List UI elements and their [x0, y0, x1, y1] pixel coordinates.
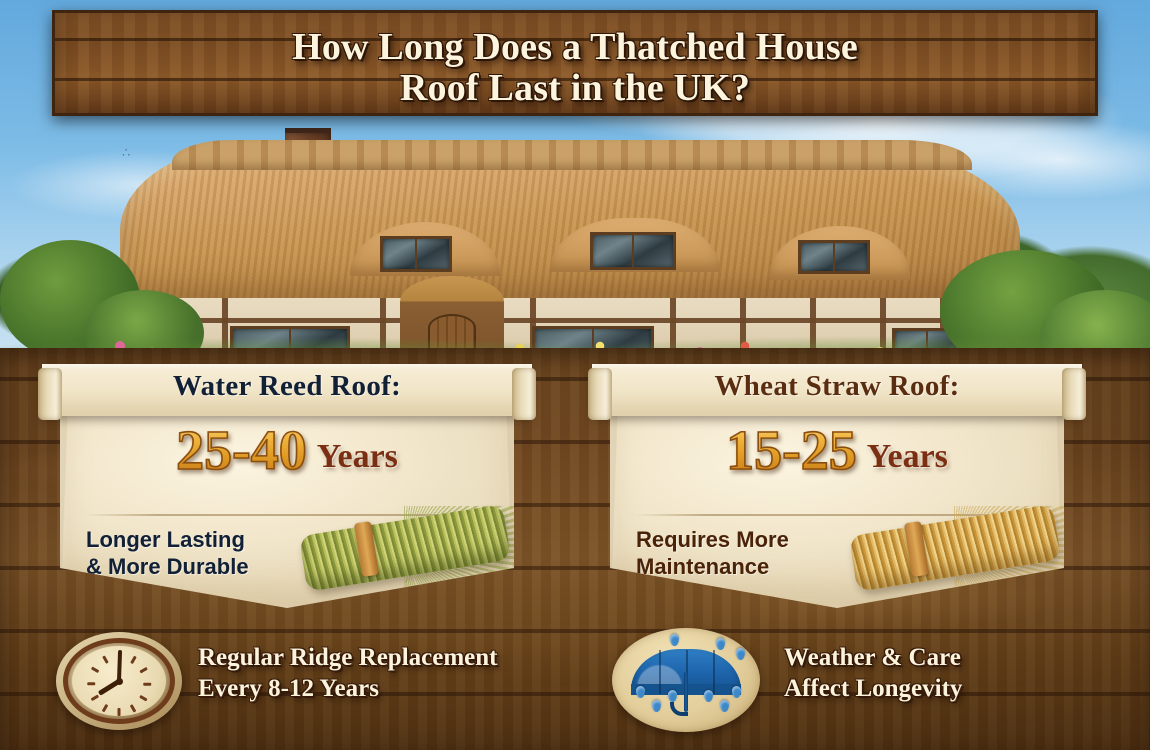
clock-tick	[102, 656, 108, 664]
straw-bundle-icon	[852, 498, 1058, 604]
panel-years-value: 15-25	[726, 420, 857, 482]
clock-center-pin	[116, 678, 123, 685]
upper-window	[590, 232, 676, 270]
footer-line-2: Affect Longevity	[784, 675, 962, 702]
clock-tick	[143, 683, 151, 686]
panel-wheat-straw: Requires More Maintenance Wheat Straw Ro…	[592, 360, 1082, 612]
panel-title: Water Reed Roof:	[42, 370, 532, 402]
reed-bundle-icon	[302, 498, 508, 604]
note-line-2: & More Durable	[86, 554, 249, 579]
panel-note: Longer Lasting & More Durable	[86, 526, 336, 580]
panel-years-unit: Years	[317, 438, 398, 475]
clock-tick	[139, 695, 147, 701]
footer-text: Weather & Care Affect Longevity	[784, 642, 962, 704]
note-line-1: Longer Lasting	[86, 527, 245, 552]
footer-line-2: Every 8-12 Years	[198, 675, 379, 702]
clock-tick	[139, 667, 147, 673]
title-board: How Long Does a Thatched House Roof Last…	[52, 10, 1098, 116]
clock-tick	[91, 695, 99, 701]
infographic-canvas: ∴	[0, 0, 1150, 750]
panel-years-unit: Years	[867, 438, 948, 475]
umbrella-rain-icon	[612, 628, 760, 732]
clock-minute-hand	[117, 650, 122, 681]
timber-beam	[176, 318, 966, 323]
panel-years-row: 15-25Years	[592, 422, 1082, 480]
footer-line-1: Weather & Care	[784, 644, 961, 671]
umbrella-rib	[686, 650, 688, 674]
umbrella-rib	[659, 650, 661, 694]
footer-weather-care: Weather & Care Affect Longevity	[612, 628, 1112, 732]
clock-tick	[87, 683, 95, 686]
clock-face	[72, 646, 166, 716]
clock-tick	[102, 704, 108, 712]
note-line-1: Requires More	[636, 527, 789, 552]
clock-tick	[130, 656, 136, 664]
clock-tick	[91, 667, 99, 673]
clock-tick	[118, 708, 121, 716]
upper-window	[380, 236, 452, 272]
panel-note: Requires More Maintenance	[636, 526, 886, 580]
panel-title: Wheat Straw Roof:	[592, 370, 1082, 402]
clock-tick	[130, 704, 136, 712]
umbrella-rib	[713, 650, 715, 694]
panel-water-reed: Longer Lasting & More Durable Water Reed…	[42, 360, 532, 612]
title-line-2: Roof Last in the UK?	[400, 67, 750, 109]
upper-window	[798, 240, 870, 274]
panel-years-value: 25-40	[176, 420, 307, 482]
footer-text: Regular Ridge Replacement Every 8-12 Yea…	[198, 642, 498, 704]
clock-icon	[56, 632, 182, 730]
page-title: How Long Does a Thatched House Roof Last…	[55, 27, 1095, 109]
footer-line-1: Regular Ridge Replacement	[198, 644, 498, 671]
roof-ridge	[172, 140, 972, 170]
footer-ridge-replacement: Regular Ridge Replacement Every 8-12 Yea…	[56, 628, 576, 732]
title-line-1: How Long Does a Thatched House	[292, 26, 858, 68]
note-line-2: Maintenance	[636, 554, 769, 579]
panel-years-row: 25-40Years	[42, 422, 532, 480]
